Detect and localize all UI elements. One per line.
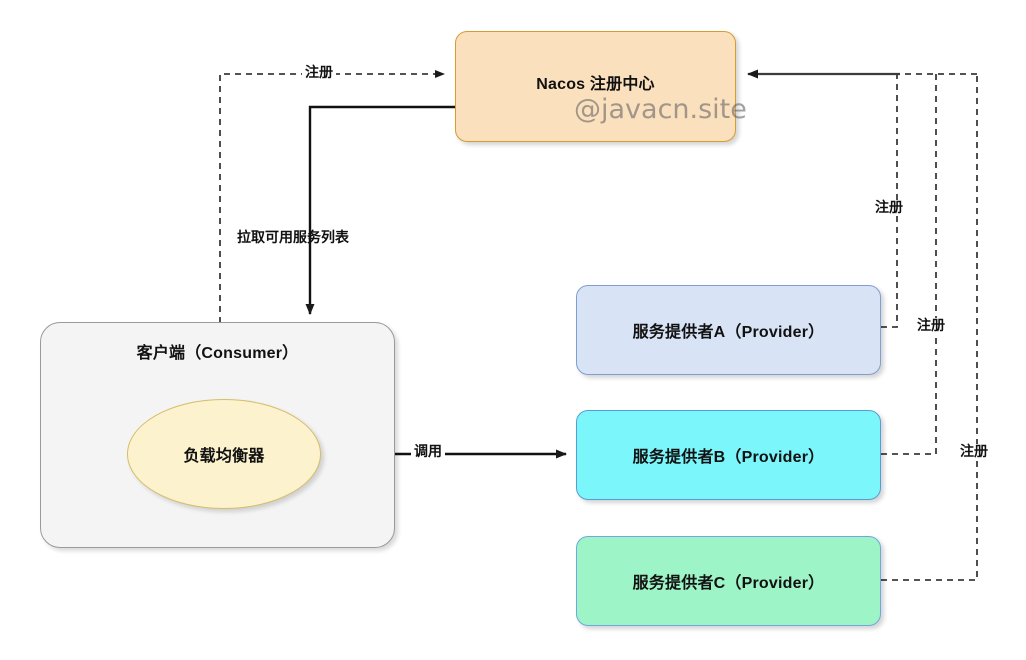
node-provider-b-label: 服务提供者B（Provider） (633, 443, 825, 467)
edge-label-provider-b-register: 注册 (914, 318, 948, 333)
node-nacos-registry[interactable]: Nacos 注册中心 @javacn.site (455, 31, 736, 142)
edge-label-invoke: 调用 (411, 444, 445, 459)
node-provider-a-label: 服务提供者A（Provider） (633, 318, 825, 342)
node-provider-c-label: 服务提供者C（Provider） (633, 569, 825, 593)
node-provider-c[interactable]: 服务提供者C（Provider） (576, 536, 881, 626)
node-load-balancer-label: 负载均衡器 (183, 442, 264, 466)
edge-label-provider-c-register: 注册 (957, 444, 991, 459)
node-provider-a[interactable]: 服务提供者A（Provider） (576, 285, 881, 375)
edge-consumer-register (220, 74, 444, 323)
diagram-canvas: Nacos 注册中心 @javacn.site 客户端（Consumer） 负载… (0, 0, 1026, 660)
node-load-balancer[interactable]: 负载均衡器 (127, 399, 321, 509)
edge-label-consumer-register: 注册 (302, 65, 336, 80)
edge-label-provider-a-register: 注册 (872, 200, 906, 215)
node-nacos-registry-label: Nacos 注册中心 (536, 70, 654, 94)
edge-label-pull-service-list: 拉取可用服务列表 (234, 230, 352, 245)
watermark-text: @javacn.site (574, 94, 747, 125)
node-provider-b[interactable]: 服务提供者B（Provider） (576, 410, 881, 500)
edge-pull-service-list (310, 107, 456, 314)
node-consumer-label: 客户端（Consumer） (137, 339, 299, 363)
